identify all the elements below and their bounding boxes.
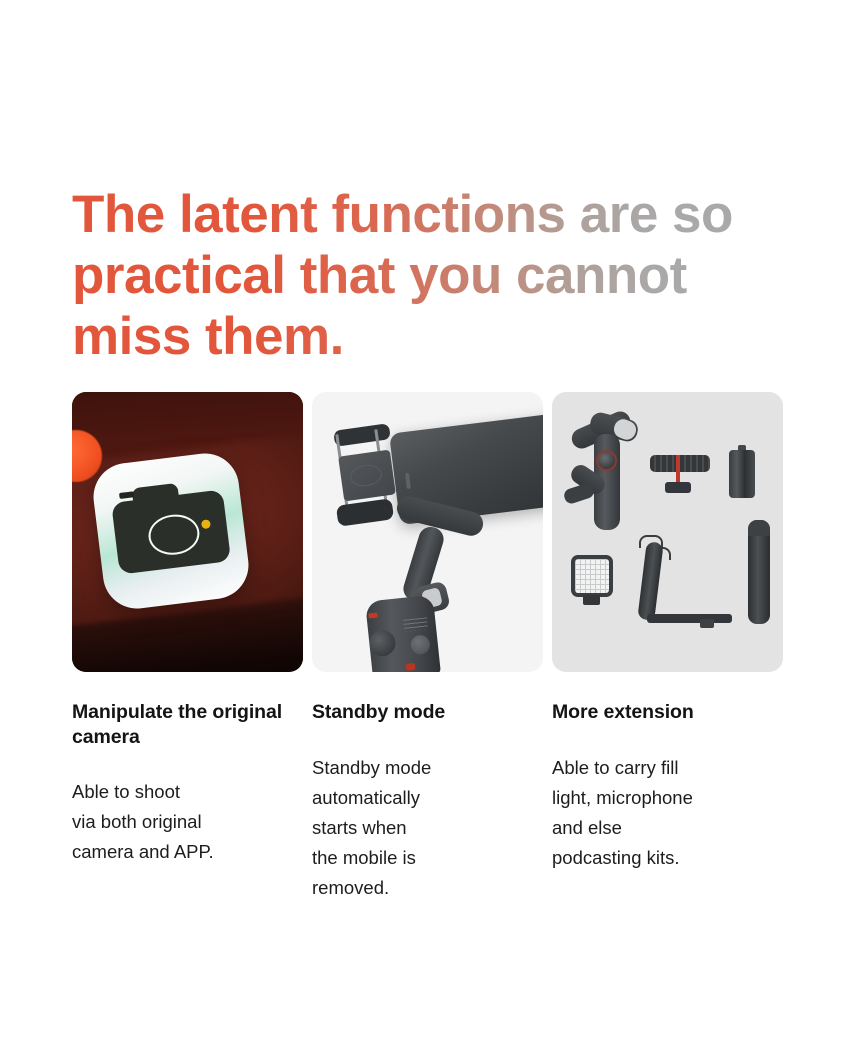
- feature-description: Standby mode automatically starts when t…: [312, 753, 543, 903]
- gimbal-clamp-plate: [338, 450, 396, 502]
- feature-column-extension: More extension Able to carry fill light,…: [552, 700, 783, 903]
- gimbal-handle-grip-lines: [403, 617, 428, 631]
- camera-icon: [90, 450, 253, 613]
- fill-light-led-grid: [575, 559, 609, 593]
- feature-column-standby: Standby mode Standby mode automatically …: [312, 700, 543, 903]
- extension-rod-cap: [748, 520, 770, 536]
- feature-description: Able to shoot via both original camera a…: [72, 777, 303, 867]
- feature-title: Manipulate the original camera: [72, 700, 303, 750]
- marketing-page: The latent functions are so practical th…: [0, 0, 856, 1044]
- gimbal-handle: [365, 595, 441, 672]
- wireless-charge-coil-icon: [349, 463, 384, 488]
- gimbal-record-button-bottom: [406, 663, 416, 671]
- accessory-gimbal-foot: [562, 482, 595, 506]
- microphone-mount: [665, 482, 691, 493]
- feature-title: More extension: [552, 700, 783, 725]
- phone-notch: [405, 473, 411, 489]
- page-headline: The latent functions are so practical th…: [72, 184, 788, 367]
- microphone-icon: [650, 455, 710, 472]
- feature-column-camera: Manipulate the original camera Able to s…: [72, 700, 303, 903]
- l-bracket-grip: [637, 541, 663, 620]
- feature-title: Standby mode: [312, 700, 543, 725]
- feature-card-camera: [72, 392, 303, 672]
- fill-light-icon: [571, 555, 613, 597]
- gimbal-record-button-top: [368, 613, 377, 619]
- gimbal-joystick-icon: [410, 634, 431, 655]
- accessory-clamp-icon: [729, 450, 755, 498]
- feature-cards-row: [72, 392, 784, 672]
- feature-card-accessories: [552, 392, 783, 672]
- l-bracket-screw: [700, 619, 714, 628]
- fill-light-shoe-mount: [583, 595, 600, 605]
- gimbal-clamp-top: [333, 423, 391, 447]
- feature-card-gimbal: [312, 392, 543, 672]
- feature-text-columns: Manipulate the original camera Able to s…: [72, 700, 788, 903]
- feature-description: Able to carry fill light, microphone and…: [552, 753, 783, 873]
- l-bracket-base: [647, 614, 732, 623]
- accessory-gimbal-dial: [596, 450, 617, 471]
- gimbal-handle-knob: [368, 629, 397, 658]
